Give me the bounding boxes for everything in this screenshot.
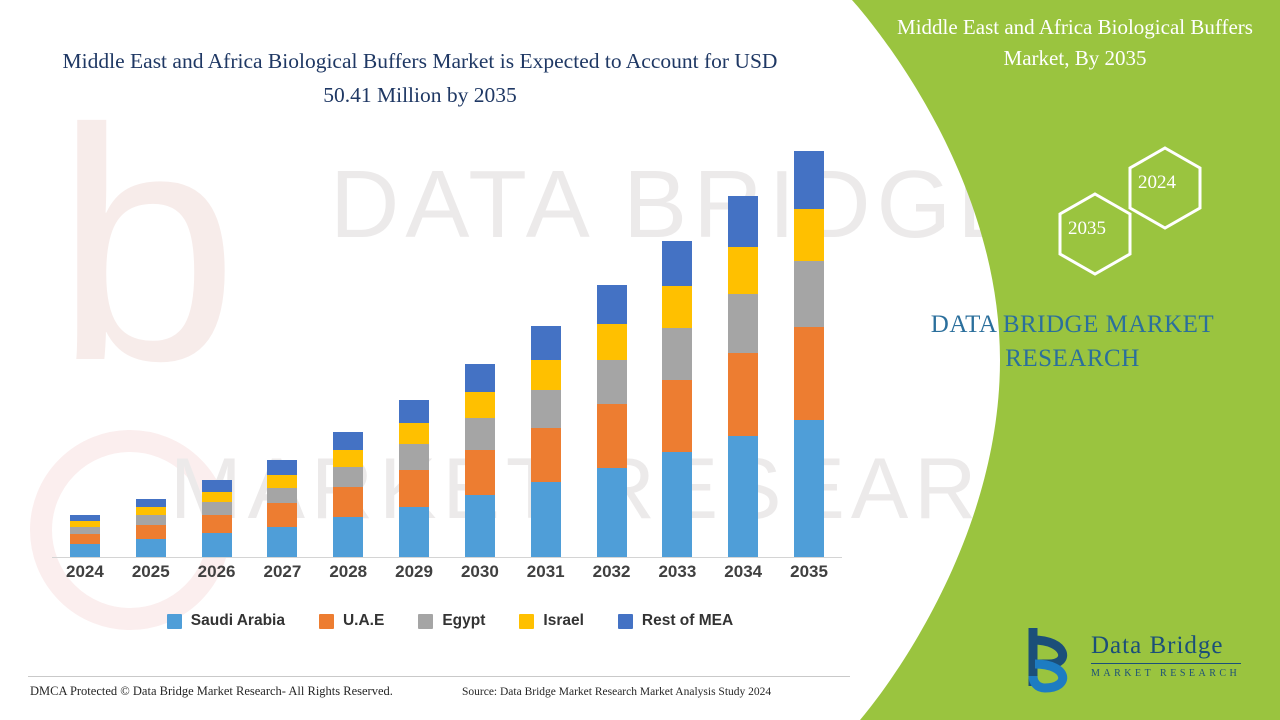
bar-segment <box>597 404 627 467</box>
bar-segment <box>662 452 692 557</box>
hexagon-group: 2024 2035 <box>960 140 1260 290</box>
hex-label-front: 2024 <box>1138 172 1176 194</box>
stacked-bar[interactable] <box>70 515 100 557</box>
x-axis-line <box>52 557 842 558</box>
bridge-logo-icon <box>1019 624 1087 694</box>
legend-item[interactable]: Saudi Arabia <box>167 612 285 630</box>
legend-label: U.A.E <box>343 612 384 630</box>
bar-segment <box>333 467 363 488</box>
stacked-bar[interactable] <box>662 241 692 557</box>
x-axis-tick-label: 2030 <box>447 562 513 582</box>
bar-segment <box>333 487 363 517</box>
bar-segment <box>333 450 363 467</box>
bar-segment <box>70 527 100 534</box>
bar-segment <box>399 423 429 444</box>
bar-column <box>315 150 381 557</box>
bar-column <box>184 150 250 557</box>
panel-title: Middle East and Africa Biological Buffer… <box>880 12 1270 74</box>
bar-segment <box>202 515 232 533</box>
legend-item[interactable]: Egypt <box>418 612 485 630</box>
bar-column <box>513 150 579 557</box>
stacked-bar[interactable] <box>531 326 561 557</box>
x-axis-labels: 2024202520262027202820292030203120322033… <box>52 562 842 582</box>
bar-segment <box>662 241 692 287</box>
bar-segment <box>662 380 692 453</box>
bar-segment <box>202 533 232 557</box>
stacked-bar[interactable] <box>728 196 758 557</box>
x-axis-tick-label: 2032 <box>579 562 645 582</box>
hexagon-icons <box>960 140 1260 290</box>
legend-label: Egypt <box>442 612 485 630</box>
footer-source: Source: Data Bridge Market Research Mark… <box>462 686 771 698</box>
bar-segment <box>597 468 627 558</box>
footer-copyright: DMCA Protected © Data Bridge Market Rese… <box>30 684 393 699</box>
x-axis-tick-label: 2033 <box>644 562 710 582</box>
bar-segment <box>333 432 363 450</box>
brand-name: DATA BRIDGE MARKET RESEARCH <box>875 308 1270 376</box>
stacked-bar[interactable] <box>794 151 824 557</box>
bar-segment <box>465 392 495 418</box>
x-axis-tick-label: 2034 <box>710 562 776 582</box>
bar-segment <box>662 286 692 328</box>
bar-segment <box>531 482 561 557</box>
logo-name: Data Bridge <box>1091 632 1241 660</box>
bar-segment <box>136 507 166 515</box>
bar-segment <box>136 499 166 508</box>
bar-segment <box>728 247 758 294</box>
legend-item[interactable]: Israel <box>519 612 584 630</box>
bar-column <box>447 150 513 557</box>
bar-segment <box>728 353 758 436</box>
bar-segment <box>70 534 100 544</box>
stacked-bar[interactable] <box>333 432 363 557</box>
bar-column <box>579 150 645 557</box>
bar-segment <box>136 525 166 539</box>
x-axis-tick-label: 2029 <box>381 562 447 582</box>
logo-divider <box>1091 663 1241 664</box>
poster-canvas: b DATA BRIDGE MARKET RESEARCH Middle Eas… <box>0 0 1280 720</box>
legend-label: Saudi Arabia <box>191 612 285 630</box>
bar-segment <box>70 544 100 557</box>
x-axis-tick-label: 2026 <box>184 562 250 582</box>
bar-segment <box>728 196 758 247</box>
bar-segment <box>136 515 166 525</box>
x-axis-tick-label: 2024 <box>52 562 118 582</box>
bar-segment <box>728 294 758 353</box>
stacked-bar[interactable] <box>399 400 429 557</box>
bar-column <box>644 150 710 557</box>
bar-segment <box>267 503 297 526</box>
page-title: Middle East and Africa Biological Buffer… <box>40 44 800 112</box>
x-axis-tick-label: 2025 <box>118 562 184 582</box>
bar-segment <box>202 502 232 515</box>
bar-segment <box>136 539 166 557</box>
bar-segment <box>399 400 429 423</box>
bar-segment <box>728 436 758 557</box>
legend-label: Rest of MEA <box>642 612 733 630</box>
logo-tagline: MARKET RESEARCH <box>1091 668 1241 679</box>
legend-swatch <box>319 614 334 629</box>
bar-segment <box>597 285 627 324</box>
bar-segment <box>267 527 297 557</box>
bar-column <box>249 150 315 557</box>
x-axis-tick-label: 2027 <box>249 562 315 582</box>
bar-segment <box>399 444 429 470</box>
legend-swatch <box>519 614 534 629</box>
bar-segment <box>794 151 824 209</box>
legend-swatch <box>167 614 182 629</box>
brand-panel: Middle East and Africa Biological Buffer… <box>840 0 1280 720</box>
bar-segment <box>267 460 297 474</box>
bar-segment <box>202 480 232 491</box>
bar-segment <box>531 326 561 360</box>
stacked-bar[interactable] <box>597 285 627 557</box>
bar-segment <box>794 420 824 557</box>
bar-column <box>381 150 447 557</box>
bar-segment <box>531 360 561 390</box>
bar-segment <box>662 328 692 380</box>
bar-column <box>710 150 776 557</box>
hex-label-back: 2035 <box>1068 218 1106 240</box>
bar-segment <box>794 209 824 262</box>
bar-column <box>776 150 842 557</box>
bar-segment <box>794 261 824 327</box>
bar-column <box>118 150 184 557</box>
x-axis-tick-label: 2031 <box>513 562 579 582</box>
bar-segment <box>399 507 429 557</box>
bar-segment <box>202 492 232 502</box>
bar-segment <box>597 324 627 360</box>
legend-item[interactable]: Rest of MEA <box>618 612 733 630</box>
footer-divider <box>28 676 850 677</box>
bar-segment <box>267 488 297 504</box>
legend-swatch <box>618 614 633 629</box>
bar-segment <box>794 327 824 420</box>
bar-segment <box>333 517 363 557</box>
stacked-bars <box>52 150 842 557</box>
stacked-bar[interactable] <box>202 480 232 557</box>
stacked-bar[interactable] <box>267 460 297 557</box>
chart-plot-area <box>52 150 842 558</box>
bar-segment <box>399 470 429 507</box>
bar-segment <box>531 390 561 428</box>
legend-item[interactable]: U.A.E <box>319 612 384 630</box>
company-logo: Data Bridge MARKET RESEARCH <box>1019 624 1244 698</box>
bar-segment <box>267 475 297 488</box>
bar-segment <box>465 495 495 557</box>
bar-segment <box>465 418 495 450</box>
legend-label: Israel <box>543 612 584 630</box>
legend-swatch <box>418 614 433 629</box>
bar-segment <box>531 428 561 482</box>
bar-column <box>52 150 118 557</box>
bar-segment <box>597 360 627 405</box>
stacked-bar[interactable] <box>136 499 166 557</box>
stacked-bar[interactable] <box>465 364 495 557</box>
x-axis-tick-label: 2035 <box>776 562 842 582</box>
x-axis-tick-label: 2028 <box>315 562 381 582</box>
bar-segment <box>465 364 495 392</box>
chart-legend: Saudi ArabiaU.A.EEgyptIsraelRest of MEA <box>70 612 830 630</box>
bar-segment <box>465 450 495 495</box>
